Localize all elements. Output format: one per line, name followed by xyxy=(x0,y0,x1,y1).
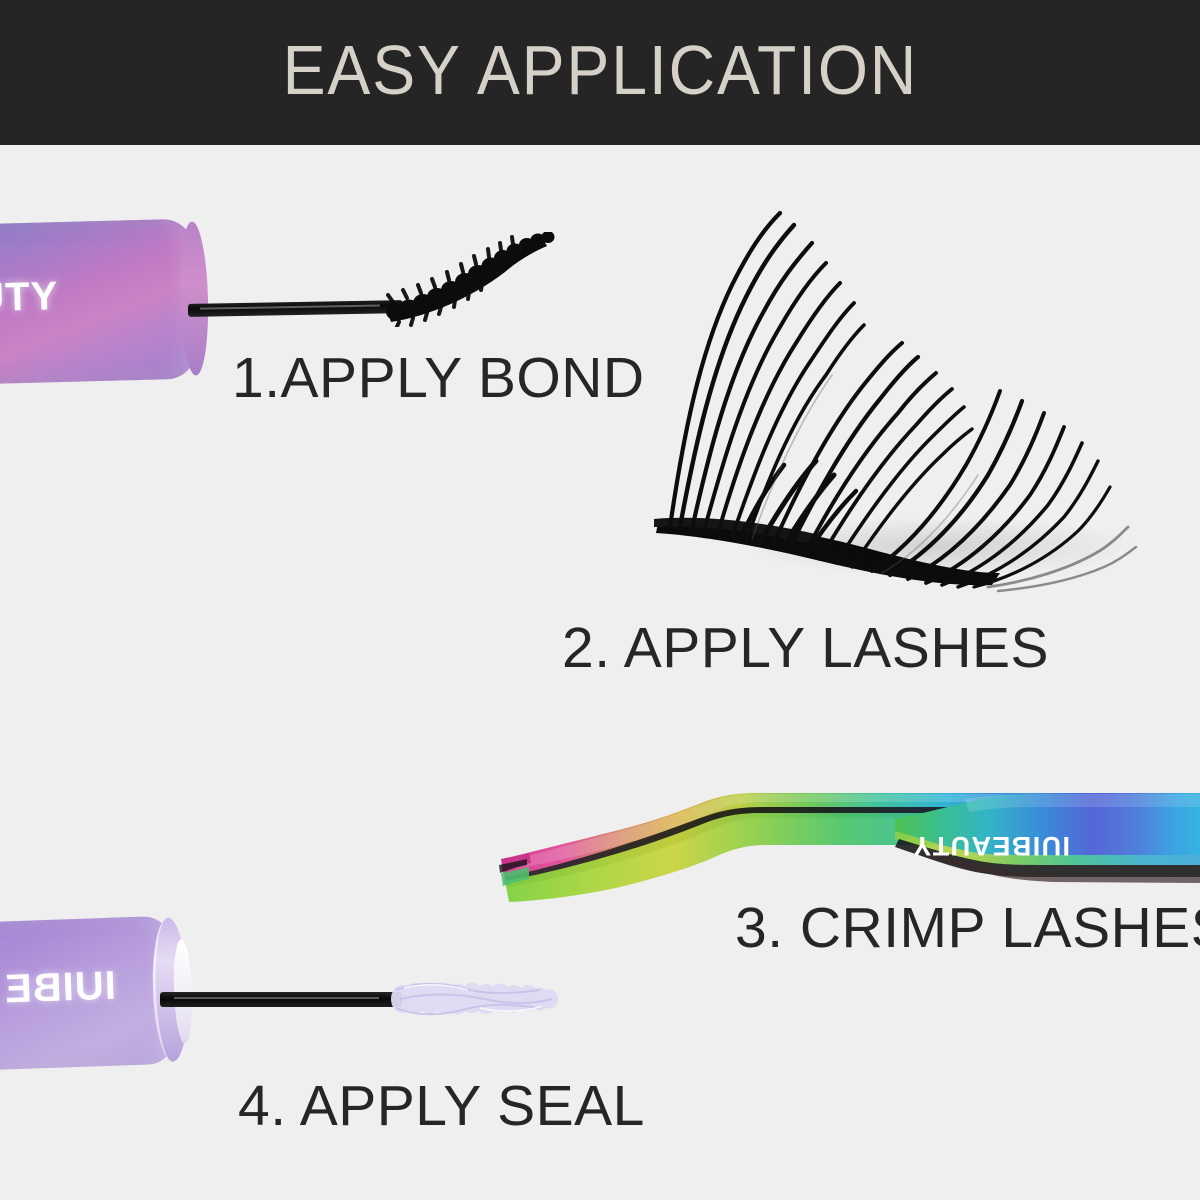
seal-wand-cap-opening xyxy=(150,917,190,1062)
step-4-label: 4. APPLY SEAL xyxy=(238,1078,645,1135)
seal-wand-cap: IUIBE xyxy=(0,916,175,1073)
bond-wand-stem xyxy=(188,300,403,317)
header-bar: EASY APPLICATION xyxy=(0,0,1200,145)
seal-wand-stem xyxy=(160,992,402,1007)
seal-wand-brand-label: IUIBE xyxy=(0,964,117,1017)
bond-wand-brand-label: BEAUTY xyxy=(0,272,138,324)
tweezers-brand-label: IUIBEAUTY xyxy=(912,831,1070,861)
step-2-label: 2. APPLY LASHES xyxy=(562,620,1049,677)
lash-cluster-illustration xyxy=(640,175,1170,605)
seal-applicator-wand: IUIBE xyxy=(0,920,562,1085)
page-title: EASY APPLICATION xyxy=(282,35,918,111)
step-1-label: 1.APPLY BOND xyxy=(232,350,645,407)
infographic-page: EASY APPLICATION BEAUTY xyxy=(0,0,1200,1200)
step-3-label: 3. CRIMP LASHES xyxy=(735,900,1200,957)
bond-wand-cap: BEAUTY xyxy=(0,219,197,386)
iridescent-tweezers-illustration: IUIBEAUTY xyxy=(495,785,1200,910)
bond-wand-brush-icon xyxy=(385,232,575,327)
seal-wand-brush-icon xyxy=(390,968,565,1030)
